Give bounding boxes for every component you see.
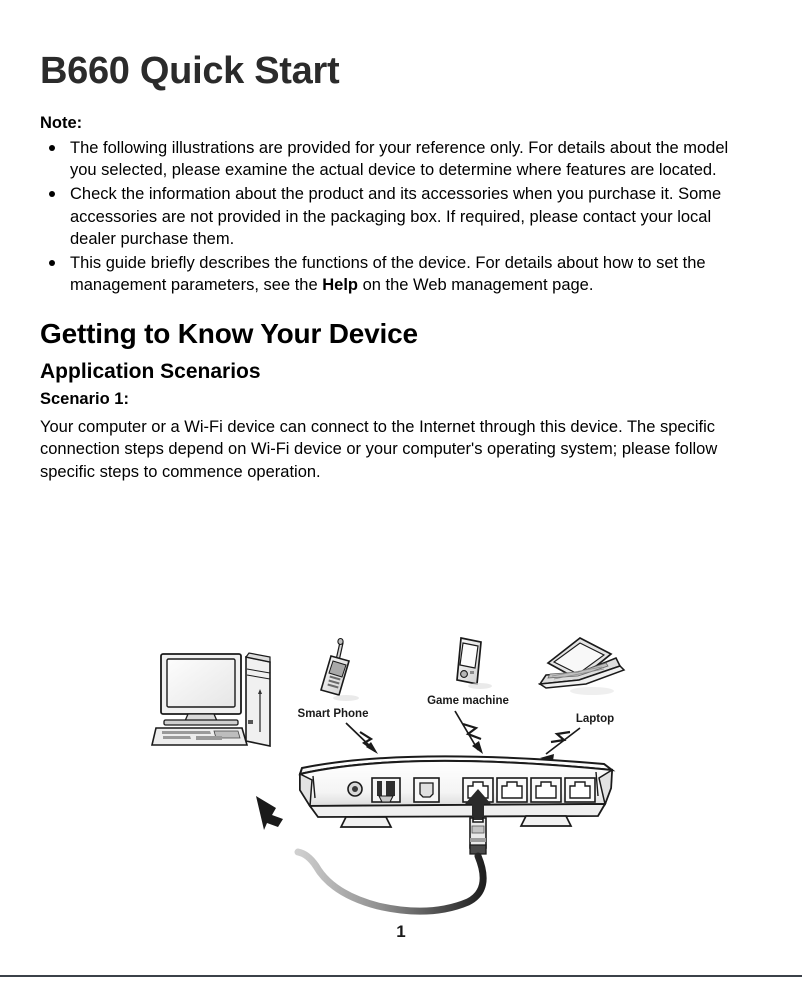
document-page: B660 Quick Start Note: The following ill…	[0, 0, 802, 981]
figure-label-laptop: Laptop	[576, 713, 614, 725]
bullet-dot-icon	[49, 191, 55, 197]
list-item: Check the information about the product …	[40, 183, 750, 251]
page-content: B660 Quick Start Note: The following ill…	[40, 52, 762, 484]
rj45-connector-icon	[470, 818, 486, 854]
lan-port-2	[497, 778, 527, 802]
desktop-computer-icon	[152, 653, 270, 746]
note-label: Note:	[40, 114, 762, 133]
page-title: B660 Quick Start	[40, 52, 762, 92]
cable-direction-arrow-icon	[256, 796, 283, 830]
bullet-text-emphasis: Help	[322, 276, 358, 294]
scenario-1-illustration: Smart Phone Game machine	[150, 628, 660, 918]
note-bullet-list: The following illustrations are provided…	[40, 137, 762, 297]
ethernet-cable	[298, 852, 483, 911]
wireless-link-laptop-icon	[546, 728, 580, 754]
lan-port-3	[531, 778, 561, 802]
router-device	[300, 756, 612, 827]
section-heading-getting-to-know: Getting to Know Your Device	[40, 319, 762, 350]
bullet-text: Check the information about the product …	[70, 185, 721, 248]
game-machine-icon	[457, 638, 492, 689]
router-phone-port	[372, 778, 400, 802]
page-number: 1	[0, 922, 802, 942]
laptop-icon	[540, 638, 624, 695]
router-usb-port	[414, 778, 439, 802]
lan-port-4	[565, 778, 595, 802]
subsection-heading-application-scenarios: Application Scenarios	[40, 360, 762, 384]
figure-label-game-machine: Game machine	[427, 695, 509, 707]
list-item: This guide briefly describes the functio…	[40, 252, 750, 297]
bullet-text-tail: on the Web management page.	[358, 276, 593, 294]
router-power-jack-port	[348, 782, 362, 796]
scenario-1-body: Your computer or a Wi-Fi device can conn…	[40, 416, 762, 484]
bullet-text: The following illustrations are provided…	[70, 139, 728, 180]
figure-label-smart-phone: Smart Phone	[298, 708, 369, 720]
list-item: The following illustrations are provided…	[40, 137, 750, 182]
scenario-1-label: Scenario 1:	[40, 390, 762, 410]
footer-divider	[0, 975, 802, 977]
bullet-dot-icon	[49, 260, 55, 266]
smart-phone-icon	[321, 639, 359, 702]
bullet-dot-icon	[49, 145, 55, 151]
